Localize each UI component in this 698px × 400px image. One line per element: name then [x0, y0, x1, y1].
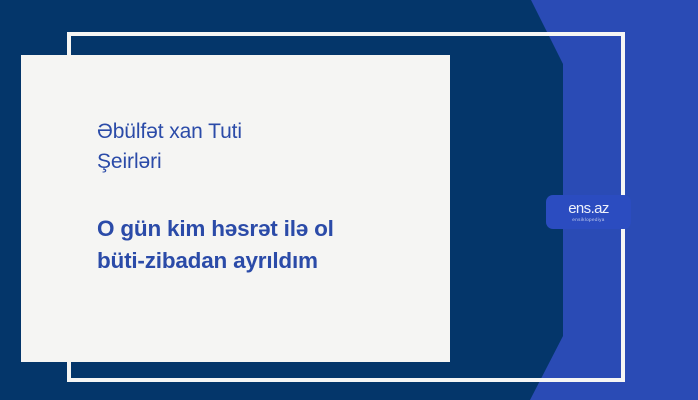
card-text-container: Əbülfət xan Tuti Şeirləri O gün kim həsr…: [97, 117, 432, 277]
ensaz-logo-badge[interactable]: ens.az ensiklopediya: [546, 195, 631, 229]
poem-first-line: O gün kim həsrət ilə ol büti-zibadan ayr…: [97, 213, 432, 278]
slide-canvas: Əbülfət xan Tuti Şeirləri O gün kim həsr…: [0, 0, 698, 400]
ensaz-tagline: ensiklopediya: [572, 218, 604, 222]
ensaz-wordmark: ens.az: [568, 201, 609, 216]
poem-author-title: Əbülfət xan Tuti Şeirləri: [97, 117, 432, 177]
content-card: Əbülfət xan Tuti Şeirləri O gün kim həsr…: [21, 55, 450, 362]
